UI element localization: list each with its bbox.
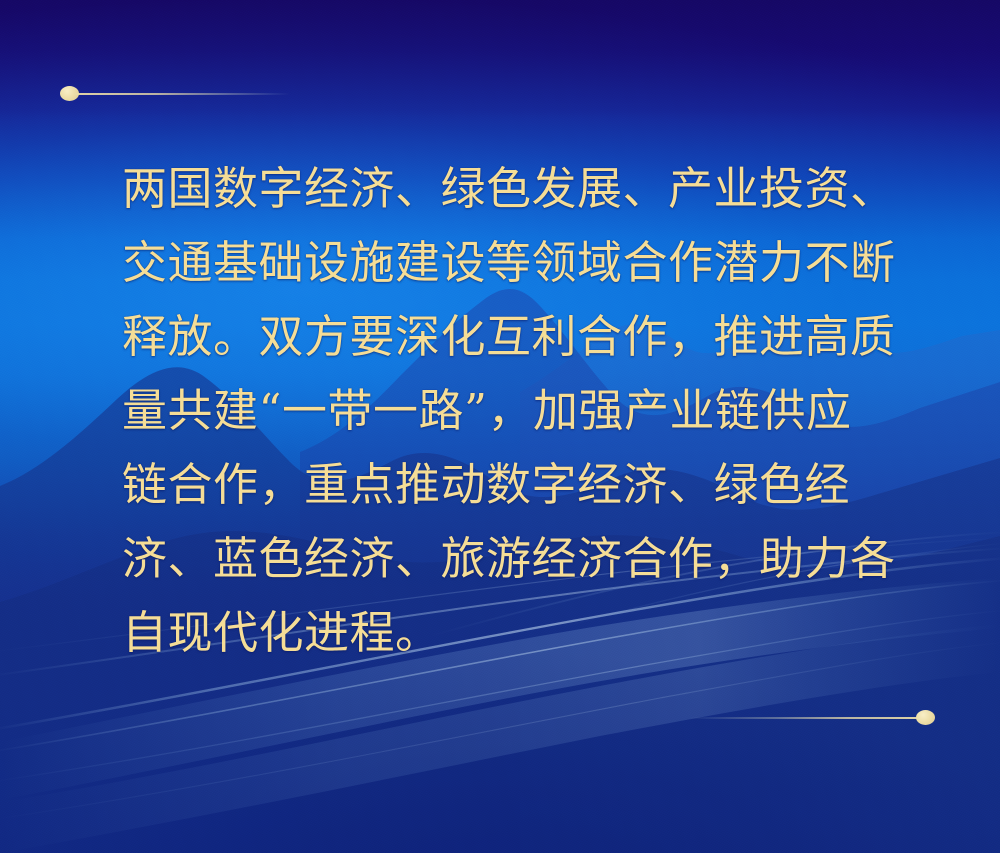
quote-text-block: 两国数字经济、绿色发展、产业投资、 交通基础设施建设等领域合作潜力不断 释放。双… [122, 152, 912, 670]
bottom-decorative-rule [690, 710, 935, 725]
quote-line: 济、蓝色经济、旅游经济合作，助力各 [122, 522, 912, 596]
quote-line: 量共建“一带一路”，加强产业链供应 [122, 374, 912, 448]
fading-line-icon [74, 93, 290, 95]
quote-card: 两国数字经济、绿色发展、产业投资、 交通基础设施建设等领域合作潜力不断 释放。双… [0, 0, 1000, 853]
top-decorative-rule [60, 86, 290, 101]
quote-line: 释放。双方要深化互利合作，推进高质 [122, 300, 912, 374]
fading-line-icon [690, 717, 921, 719]
quote-line: 链合作，重点推动数字经济、绿色经 [122, 448, 912, 522]
quote-line: 两国数字经济、绿色发展、产业投资、 [122, 152, 912, 226]
bullet-dot-icon [916, 710, 935, 725]
quote-line: 自现代化进程。 [122, 596, 912, 670]
quote-line: 交通基础设施建设等领域合作潜力不断 [122, 226, 912, 300]
